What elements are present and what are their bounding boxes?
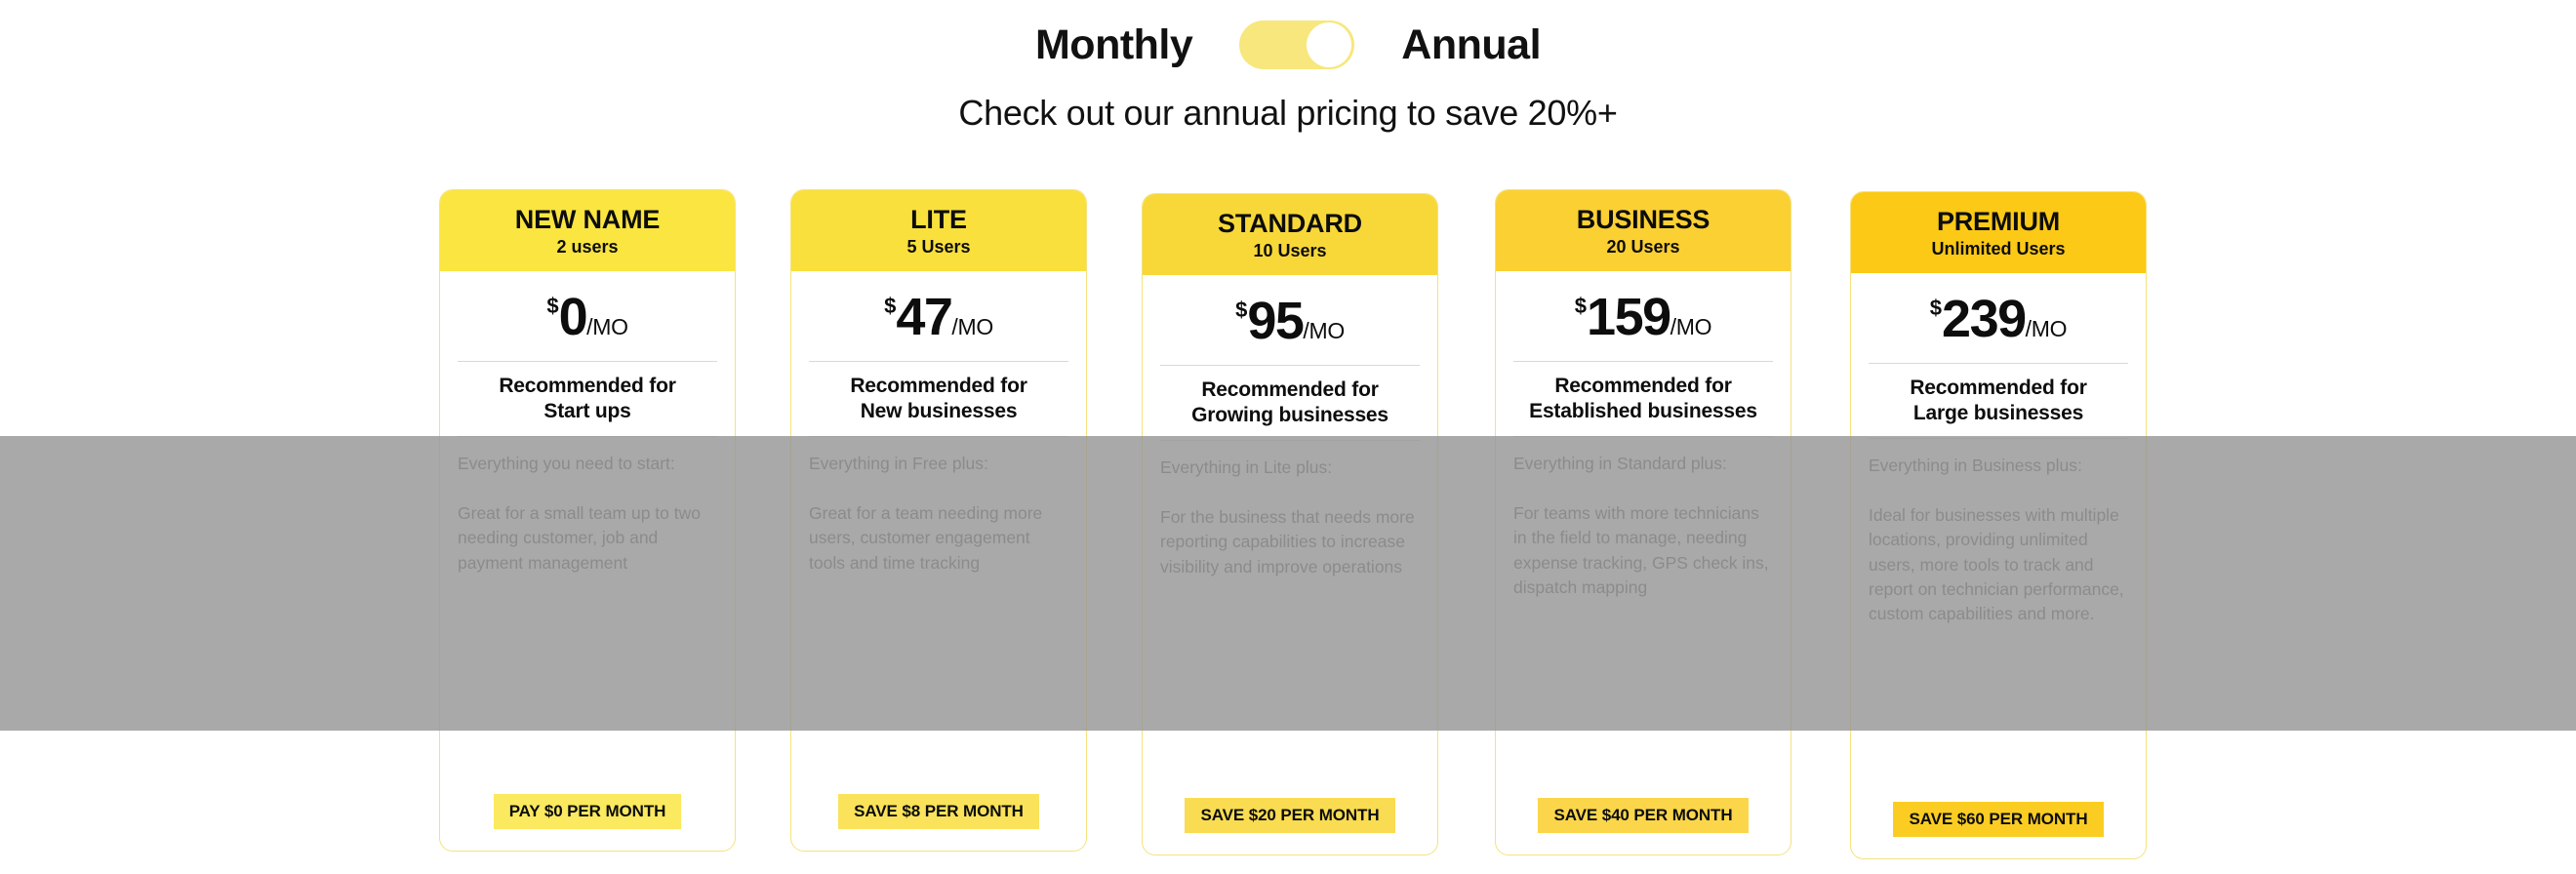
price-currency-symbol: $ [1575, 294, 1587, 318]
plan-price: $239/MO [1869, 273, 2128, 363]
feature-lead-text: Everything in Lite plus: [1160, 457, 1420, 480]
card-footer: PAY $0 PER MONTH [440, 794, 735, 851]
price-period: /MO [951, 314, 993, 339]
plan-price: $95/MO [1160, 275, 1420, 365]
pricing-card-premium[interactable]: PREMIUM Unlimited Users $239/MO Recommen… [1850, 191, 2147, 859]
feature-list: Everything in Business plus: Ideal for b… [1869, 439, 2128, 802]
plan-user-count: 5 Users [801, 238, 1076, 258]
feature-list: Everything in Lite plus: For the busines… [1160, 441, 1420, 798]
price-period: /MO [1670, 314, 1712, 339]
recommended-block: Recommended for Start ups [458, 362, 717, 436]
recommended-audience: Large businesses [1869, 401, 2128, 426]
card-footer: SAVE $8 PER MONTH [791, 794, 1086, 851]
card-header: BUSINESS 20 Users [1496, 190, 1791, 271]
feature-description: For the business that needs more reporti… [1160, 505, 1420, 579]
pricing-card-business[interactable]: BUSINESS 20 Users $159/MO Recommended fo… [1495, 189, 1791, 855]
pricing-card-new-name[interactable]: NEW NAME 2 users $0/MO Recommended for S… [439, 189, 736, 852]
recommended-audience: Growing businesses [1160, 403, 1420, 428]
billing-toggle-annual-label[interactable]: Annual [1401, 24, 1541, 66]
plan-name: STANDARD [1152, 210, 1428, 238]
plan-name: BUSINESS [1506, 206, 1781, 234]
recommended-block: Recommended for Established businesses [1513, 362, 1773, 436]
price-currency-symbol: $ [884, 294, 896, 318]
plan-name: NEW NAME [450, 206, 725, 234]
plan-name: PREMIUM [1861, 208, 2136, 236]
feature-list: Everything in Standard plus: For teams w… [1513, 437, 1773, 798]
billing-toggle-monthly-label[interactable]: Monthly [1035, 24, 1192, 66]
card-footer: SAVE $20 PER MONTH [1143, 798, 1437, 854]
feature-description: Great for a small team up to two needing… [458, 501, 717, 576]
plan-price: $47/MO [809, 271, 1068, 361]
feature-description: For teams with more technicians in the f… [1513, 501, 1773, 601]
price-amount: 47 [896, 288, 951, 346]
recommended-label: Recommended for [1160, 377, 1420, 403]
card-body: $95/MO Recommended for Growing businesse… [1143, 275, 1437, 798]
price-currency-symbol: $ [1235, 298, 1247, 322]
card-header: STANDARD 10 Users [1143, 194, 1437, 275]
feature-description: Great for a team needing more users, cus… [809, 501, 1068, 576]
feature-lead-text: Everything you need to start: [458, 453, 717, 476]
plan-user-count: 20 Users [1506, 238, 1781, 258]
price-amount: 159 [1587, 288, 1670, 346]
price-period: /MO [586, 314, 628, 339]
recommended-audience: Established businesses [1513, 399, 1773, 424]
card-footer: SAVE $40 PER MONTH [1496, 798, 1791, 854]
plan-cta-button[interactable]: SAVE $20 PER MONTH [1185, 798, 1394, 833]
recommended-block: Recommended for Growing businesses [1160, 366, 1420, 440]
card-header: NEW NAME 2 users [440, 190, 735, 271]
billing-period-switch[interactable] [1239, 20, 1354, 69]
plan-cta-button[interactable]: SAVE $60 PER MONTH [1893, 802, 2103, 837]
price-period: /MO [2026, 316, 2068, 341]
recommended-label: Recommended for [458, 374, 717, 399]
pricing-subheading: Check out our annual pricing to save 20%… [0, 96, 2576, 131]
plan-cta-button[interactable]: SAVE $8 PER MONTH [838, 794, 1039, 829]
feature-lead-text: Everything in Standard plus: [1513, 453, 1773, 476]
plan-user-count: 10 Users [1152, 242, 1428, 261]
feature-lead-text: Everything in Free plus: [809, 453, 1068, 476]
plan-price: $159/MO [1513, 271, 1773, 361]
card-body: $47/MO Recommended for New businesses Ev… [791, 271, 1086, 794]
recommended-label: Recommended for [1869, 376, 2128, 401]
price-amount: 95 [1247, 292, 1303, 350]
recommended-audience: Start ups [458, 399, 717, 424]
card-body: $159/MO Recommended for Established busi… [1496, 271, 1791, 798]
recommended-block: Recommended for New businesses [809, 362, 1068, 436]
recommended-block: Recommended for Large businesses [1869, 364, 2128, 438]
recommended-label: Recommended for [1513, 374, 1773, 399]
plan-price: $0/MO [458, 271, 717, 361]
plan-cta-button[interactable]: SAVE $40 PER MONTH [1538, 798, 1748, 833]
feature-list: Everything in Free plus: Great for a tea… [809, 437, 1068, 794]
price-amount: 0 [559, 288, 587, 346]
price-currency-symbol: $ [1930, 296, 1942, 320]
pricing-card-lite[interactable]: LITE 5 Users $47/MO Recommended for New … [790, 189, 1087, 852]
billing-period-header: Monthly Annual Check out our annual pric… [0, 0, 2576, 131]
billing-toggle-row: Monthly Annual [0, 0, 2576, 90]
feature-lead-text: Everything in Business plus: [1869, 455, 2128, 478]
switch-knob-icon [1307, 22, 1351, 67]
plan-cta-button[interactable]: PAY $0 PER MONTH [494, 794, 682, 829]
feature-list: Everything you need to start: Great for … [458, 437, 717, 794]
pricing-card-standard[interactable]: STANDARD 10 Users $95/MO Recommended for… [1142, 193, 1438, 855]
price-amount: 239 [1942, 290, 2026, 348]
recommended-label: Recommended for [809, 374, 1068, 399]
plan-user-count: 2 users [450, 238, 725, 258]
feature-description: Ideal for businesses with multiple locat… [1869, 503, 2128, 627]
card-footer: SAVE $60 PER MONTH [1851, 802, 2146, 858]
price-currency-symbol: $ [546, 294, 558, 318]
plan-name: LITE [801, 206, 1076, 234]
plan-user-count: Unlimited Users [1861, 240, 2136, 259]
card-header: LITE 5 Users [791, 190, 1086, 271]
card-body: $239/MO Recommended for Large businesses… [1851, 273, 2146, 802]
card-header: PREMIUM Unlimited Users [1851, 192, 2146, 273]
recommended-audience: New businesses [809, 399, 1068, 424]
card-body: $0/MO Recommended for Start ups Everythi… [440, 271, 735, 794]
price-period: /MO [1303, 318, 1345, 343]
